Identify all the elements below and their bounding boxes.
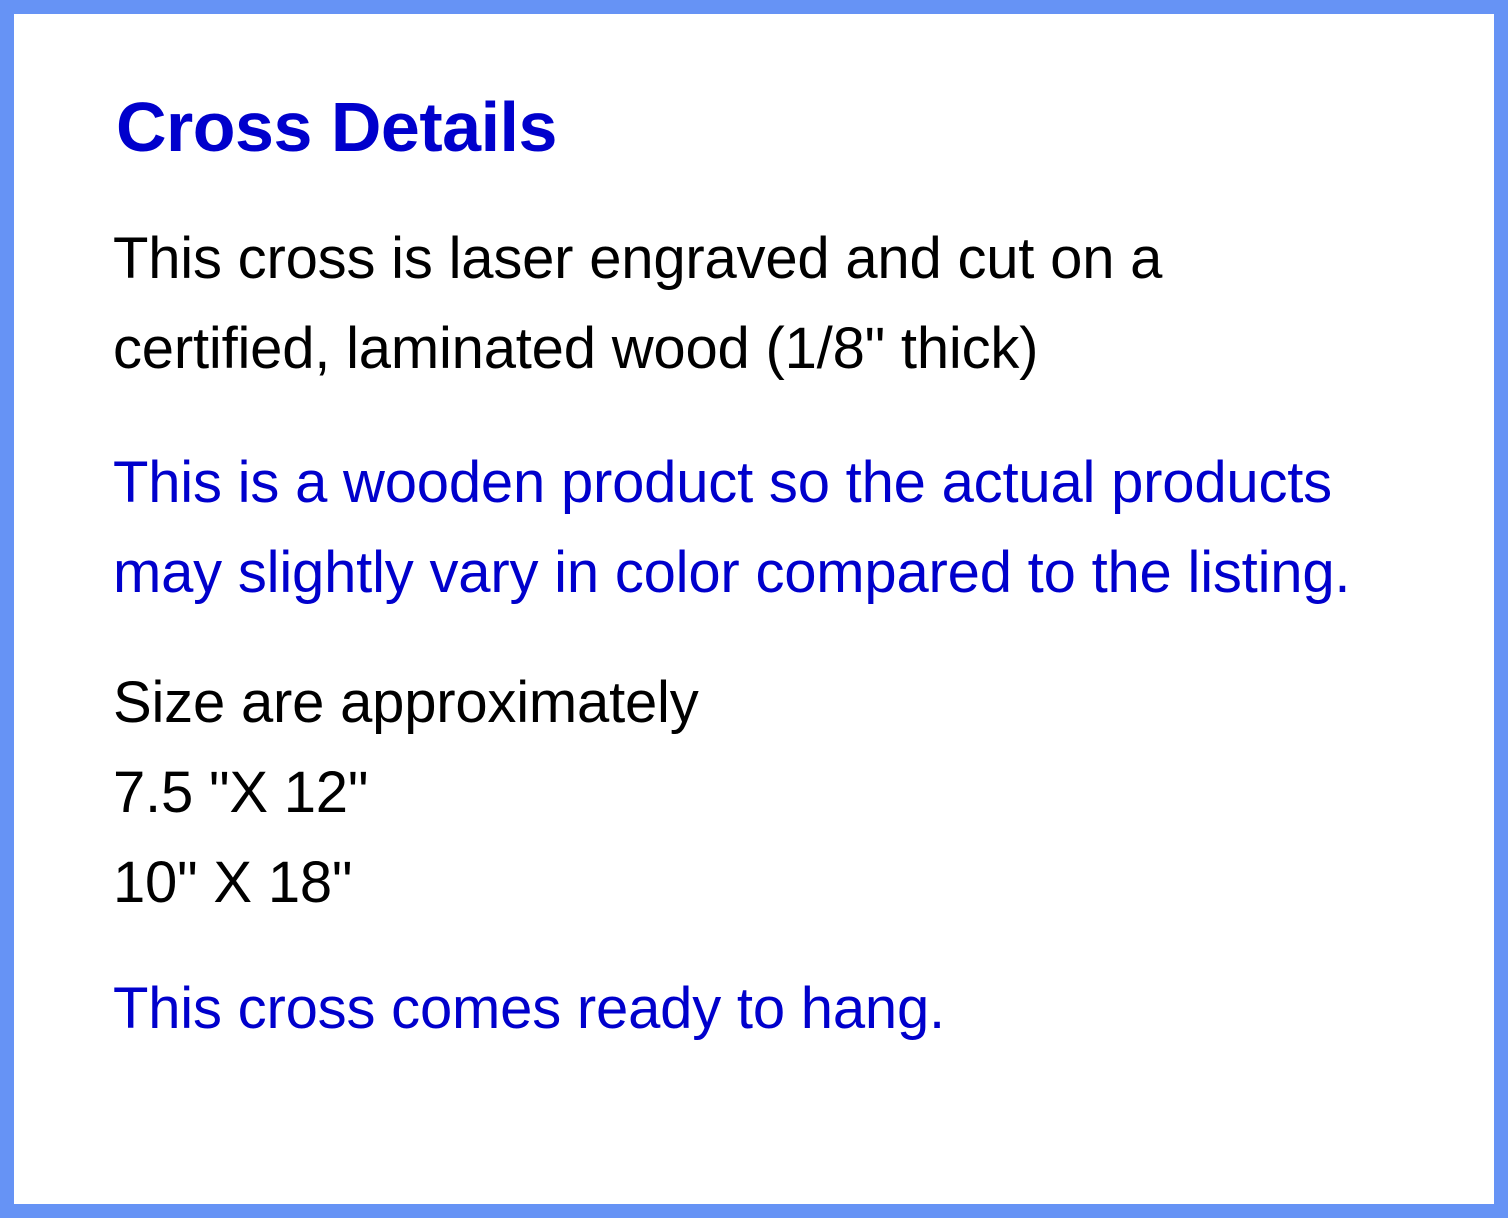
paragraph-construction: This cross is laser engraved and cut on … <box>112 214 1482 394</box>
page-title: Cross Details <box>112 92 1482 162</box>
paragraph-spacer <box>112 618 1482 658</box>
paragraph-spacer <box>112 928 1482 964</box>
paragraph-sizes: Size are approximately 7.5 "X 12" 10" X … <box>112 658 1482 928</box>
paragraph-spacer <box>112 394 1482 438</box>
product-details-card-frame: Cross Details This cross is laser engrav… <box>0 0 1508 1218</box>
size-option-small: 7.5 "X 12" <box>113 748 1482 838</box>
size-option-large: 10" X 18" <box>113 838 1482 928</box>
paragraph-construction-line: certified, laminated wood (1/8" thick) <box>113 304 1482 394</box>
paragraph-construction-line: This cross is laser engraved and cut on … <box>113 214 1482 304</box>
card-content: Cross Details This cross is laser engrav… <box>112 92 1482 1200</box>
paragraph-color-disclaimer: This is a wooden product so the actual p… <box>112 438 1482 618</box>
paragraph-hanging: This cross comes ready to hang. <box>112 964 1482 1054</box>
product-details-card: Cross Details This cross is laser engrav… <box>14 14 1494 1204</box>
paragraph-color-disclaimer-line: This is a wooden product so the actual p… <box>113 438 1482 528</box>
paragraph-hanging-line: This cross comes ready to hang. <box>113 964 1482 1054</box>
sizes-heading-line: Size are approximately <box>113 658 1482 748</box>
paragraph-color-disclaimer-line: may slightly vary in color compared to t… <box>113 528 1482 618</box>
